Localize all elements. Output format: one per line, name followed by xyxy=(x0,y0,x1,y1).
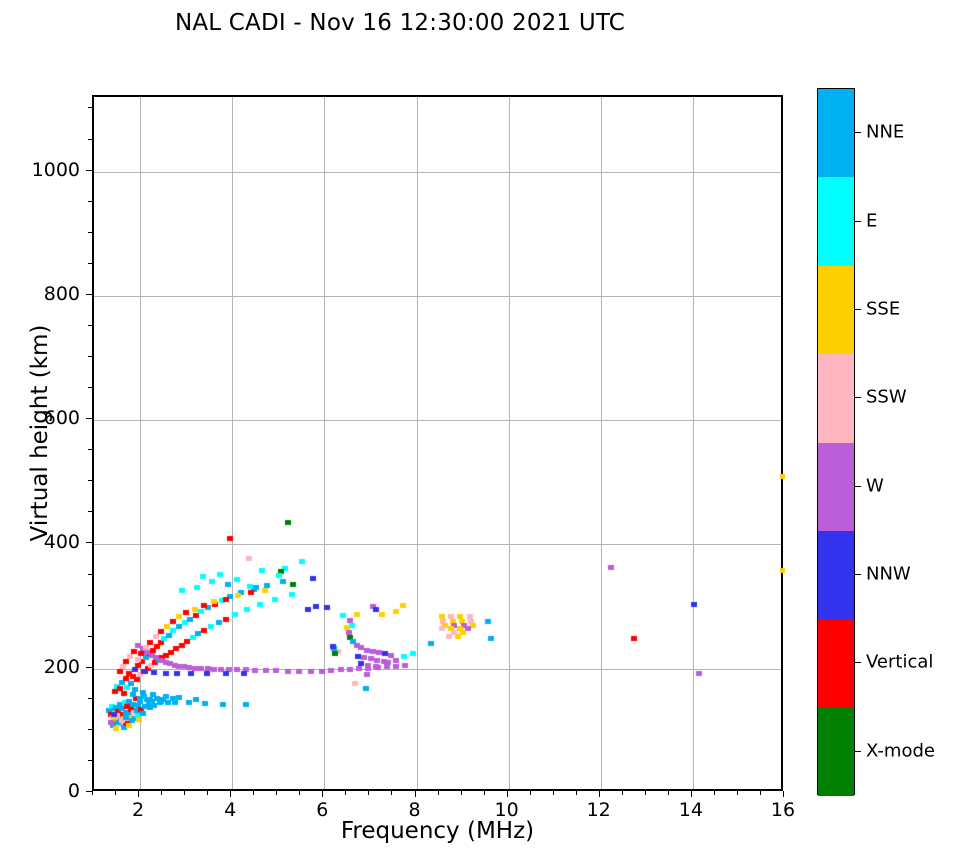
x-tick-minor xyxy=(161,791,162,795)
x-tick-minor xyxy=(714,791,715,795)
colorbar-label-vertical: Vertical xyxy=(866,652,933,673)
x-tick-minor xyxy=(461,791,462,795)
colorbar-tick xyxy=(855,486,861,487)
x-tick-minor xyxy=(668,791,669,795)
chart-title: NAL CADI - Nov 16 12:30:00 2021 UTC xyxy=(0,10,800,36)
colorbar-labels: NNEESSESSWWNNWVerticalX-mode xyxy=(866,88,956,795)
colorbar-label-nnw: NNW xyxy=(866,564,911,585)
x-tick-minor xyxy=(368,791,369,795)
y-tick-major xyxy=(86,791,92,792)
colorbar-segment-w xyxy=(818,443,854,531)
x-tick-minor xyxy=(645,791,646,795)
y-tick-major xyxy=(86,418,92,419)
x-tick-minor xyxy=(484,791,485,795)
x-tick-major xyxy=(691,791,692,797)
x-tick-minor xyxy=(253,791,254,795)
y-tick-minor xyxy=(88,201,92,202)
colorbar-label-e: E xyxy=(866,210,877,231)
y-tick-minor xyxy=(88,449,92,450)
y-tick-minor xyxy=(88,605,92,606)
y-tick-major xyxy=(86,294,92,295)
y-tick-minor xyxy=(88,698,92,699)
y-tick-minor xyxy=(88,387,92,388)
y-tick-minor xyxy=(88,636,92,637)
colorbar-tick xyxy=(855,221,861,222)
x-tick-minor xyxy=(115,791,116,795)
x-tick-minor xyxy=(737,791,738,795)
y-tick-minor xyxy=(88,729,92,730)
y-tick-minor xyxy=(88,356,92,357)
x-tick-minor xyxy=(276,791,277,795)
colorbar-label-nne: NNE xyxy=(866,122,904,143)
x-tick-major xyxy=(507,791,508,797)
colorbar-label-w: W xyxy=(866,475,884,496)
colorbar-label-x-mode: X-mode xyxy=(866,740,935,761)
colorbar-segment-vertical xyxy=(818,619,854,707)
colorbar-segment-sse xyxy=(818,266,854,354)
colorbar-tick xyxy=(855,132,861,133)
colorbar-segment-e xyxy=(818,177,854,265)
colorbar-segment-x-mode xyxy=(818,708,854,796)
y-tick-label: 200 xyxy=(44,656,80,678)
y-tick-minor xyxy=(88,480,92,481)
y-tick-major xyxy=(86,542,92,543)
colorbar-tick xyxy=(855,574,861,575)
x-tick-minor xyxy=(345,791,346,795)
x-tick-major xyxy=(230,791,231,797)
x-tick-minor xyxy=(530,791,531,795)
y-tick-major xyxy=(86,170,92,171)
x-tick-major xyxy=(599,791,600,797)
y-tick-minor xyxy=(88,232,92,233)
x-tick-major xyxy=(322,791,323,797)
x-tick-minor xyxy=(207,791,208,795)
colorbar-segment-ssw xyxy=(818,354,854,442)
x-tick-major xyxy=(783,791,784,797)
colorbar-segment-nne xyxy=(818,89,854,177)
x-tick-minor xyxy=(438,791,439,795)
x-axis-title: Frequency (MHz) xyxy=(92,818,783,844)
y-tick-minor xyxy=(88,139,92,140)
x-tick-minor xyxy=(184,791,185,795)
colorbar-label-ssw: SSW xyxy=(866,387,907,408)
y-tick-minor xyxy=(88,574,92,575)
x-tick-minor xyxy=(622,791,623,795)
x-tick-minor xyxy=(576,791,577,795)
y-tick-minor xyxy=(88,760,92,761)
y-tick-minor xyxy=(88,263,92,264)
y-tick-minor xyxy=(88,325,92,326)
x-tick-minor xyxy=(760,791,761,795)
colorbar-tick xyxy=(855,397,861,398)
colorbar-tick xyxy=(855,751,861,752)
plot-area xyxy=(92,95,783,791)
ionogram-scatter-canvas xyxy=(94,97,785,793)
x-tick-major xyxy=(138,791,139,797)
y-tick-label: 1000 xyxy=(32,159,80,181)
colorbar-tick xyxy=(855,309,861,310)
colorbar-segment-nnw xyxy=(818,531,854,619)
x-tick-major xyxy=(415,791,416,797)
colorbar-label-sse: SSE xyxy=(866,298,900,319)
y-axis-title: Virtual height (km) xyxy=(27,223,53,643)
x-tick-minor xyxy=(299,791,300,795)
y-tick-minor xyxy=(88,511,92,512)
colorbar xyxy=(817,88,855,795)
y-tick-minor xyxy=(88,107,92,108)
x-tick-minor xyxy=(92,791,93,795)
colorbar-tick xyxy=(855,662,861,663)
y-tick-major xyxy=(86,667,92,668)
x-tick-minor xyxy=(391,791,392,795)
x-tick-minor xyxy=(553,791,554,795)
y-tick-label: 0 xyxy=(68,780,80,802)
